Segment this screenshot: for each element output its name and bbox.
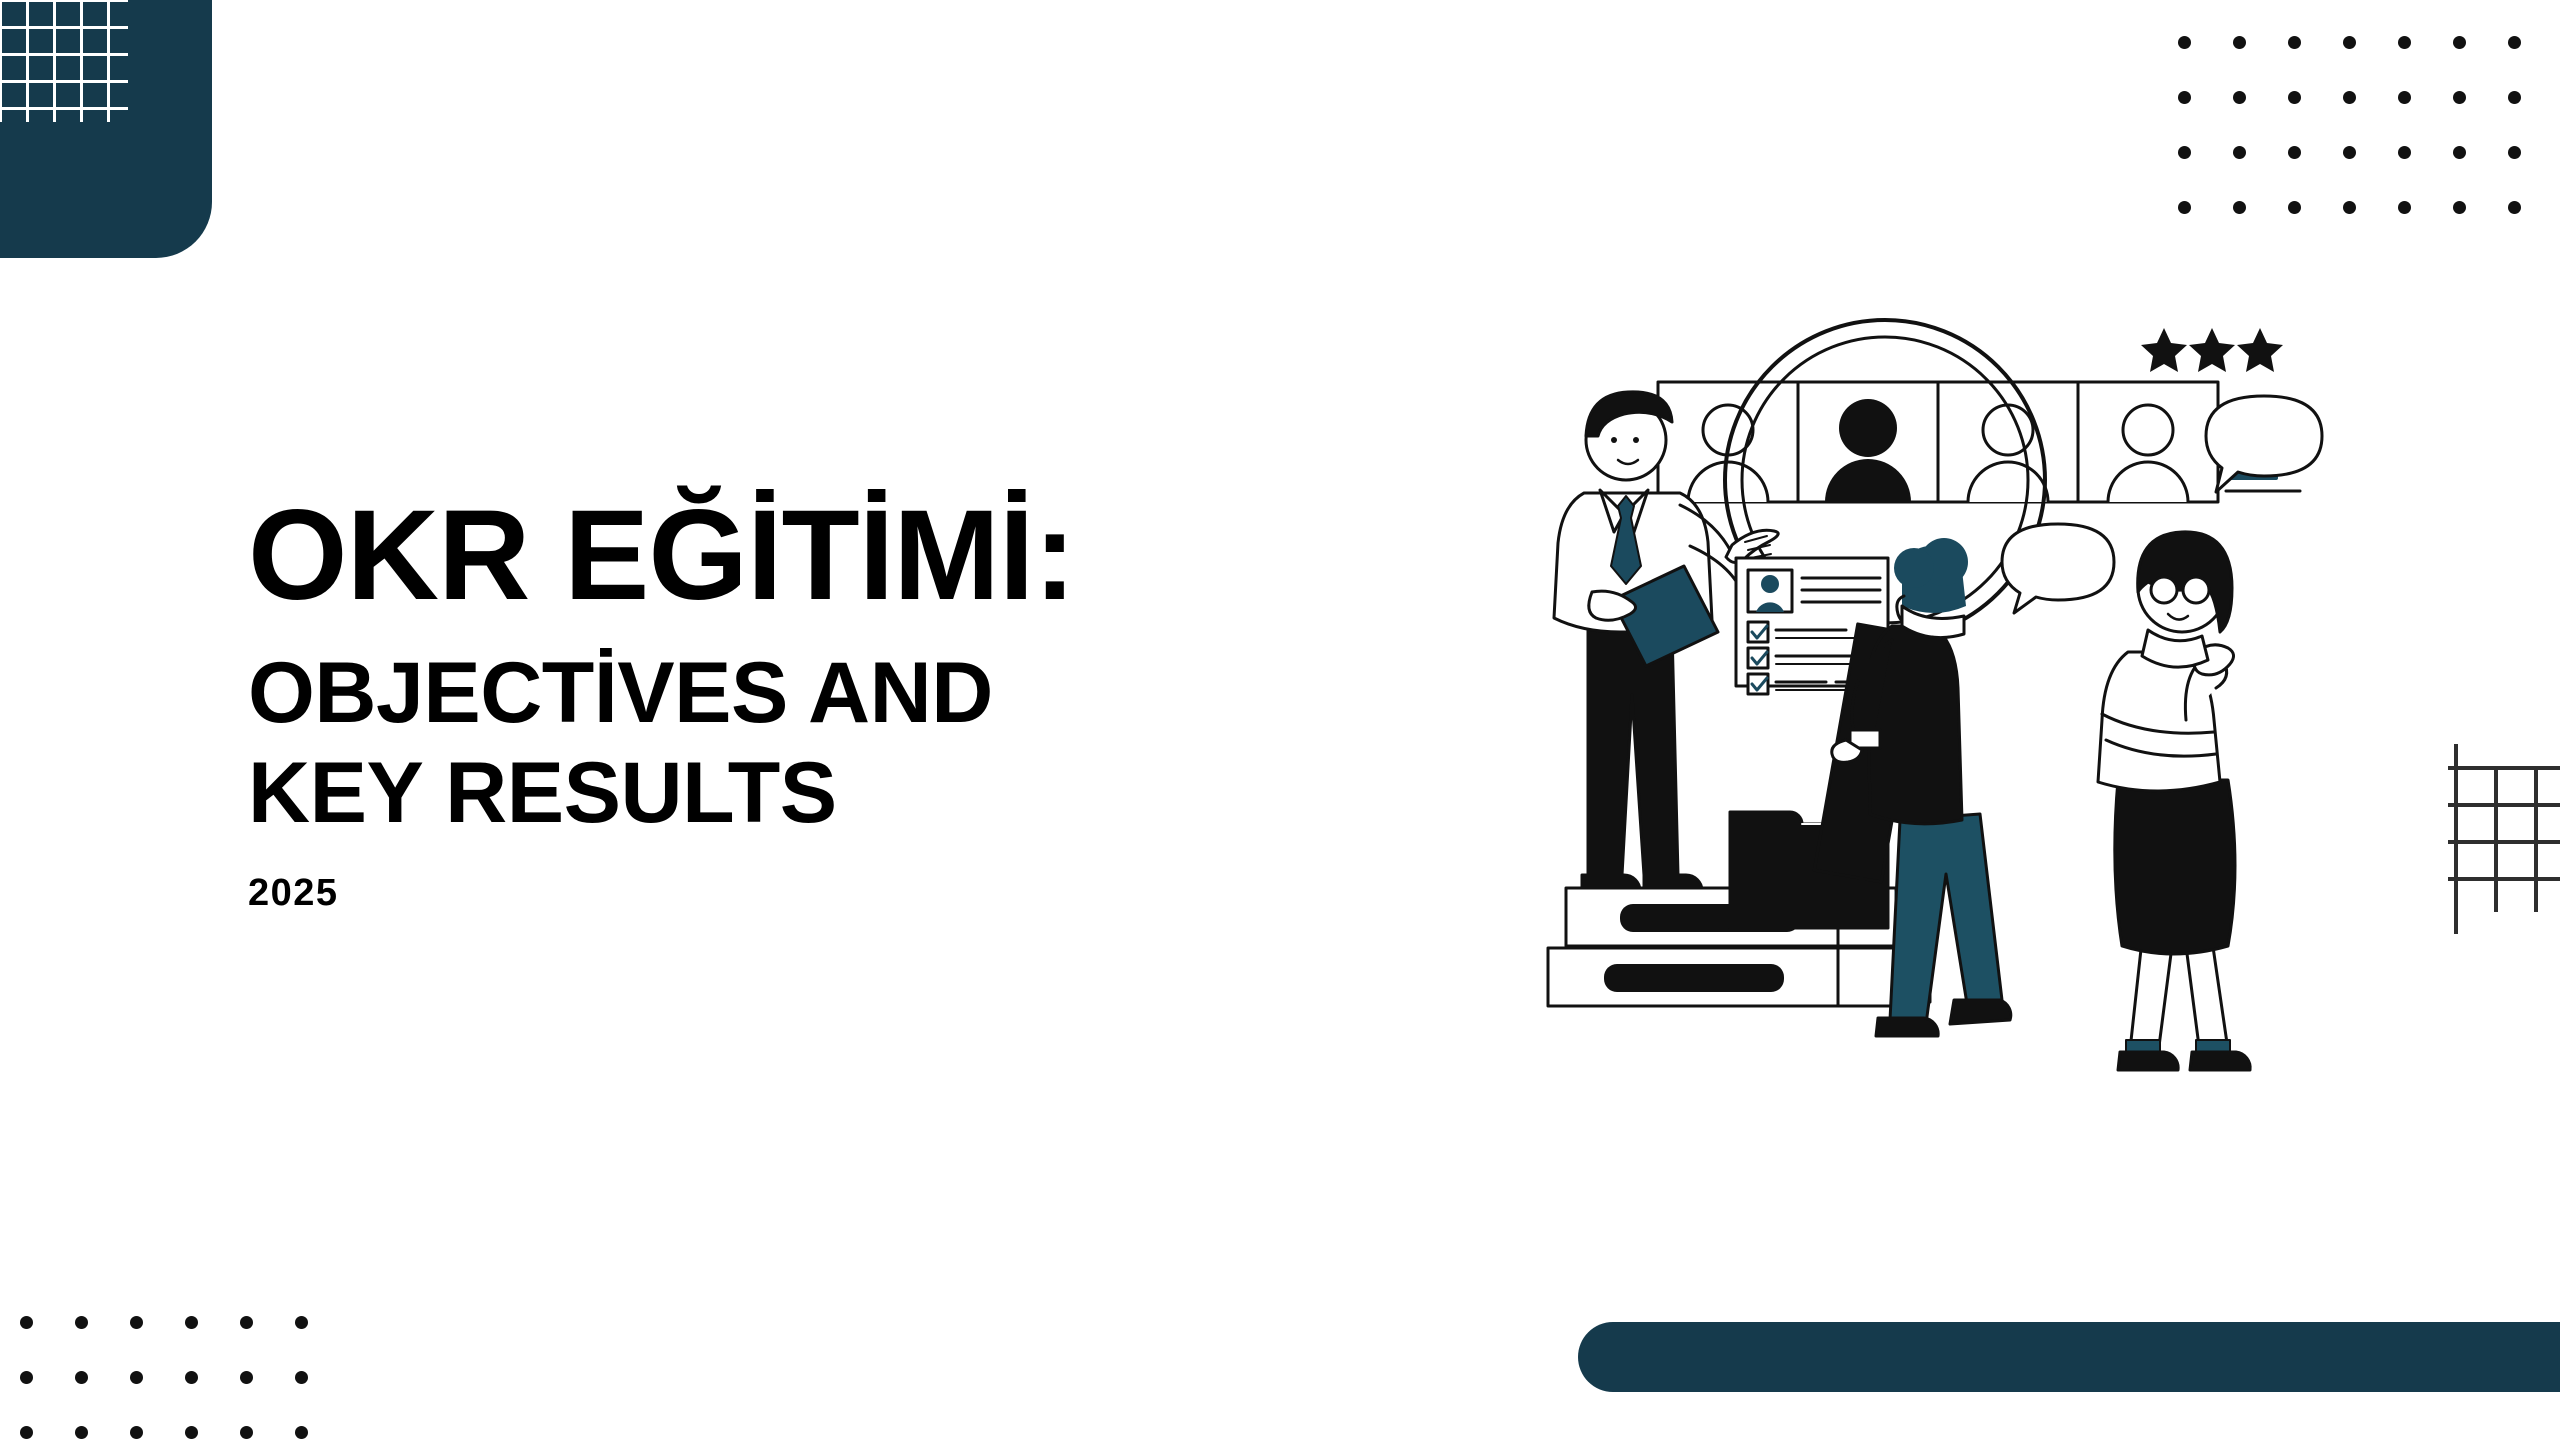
- decorative-dot: [2343, 201, 2356, 214]
- page-title: OKR EĞİTİMİ:: [248, 492, 1468, 620]
- decorative-dot: [2343, 36, 2356, 49]
- decorative-dot: [130, 1371, 143, 1384]
- corner-grid-pattern: [0, 0, 128, 122]
- decorative-dot: [2453, 91, 2466, 104]
- decorative-dot: [185, 1316, 198, 1329]
- decorative-dot: [2178, 91, 2191, 104]
- decorative-dot: [2288, 91, 2301, 104]
- decorative-dot: [240, 1426, 253, 1439]
- decorative-dot: [20, 1426, 33, 1439]
- decorative-dot: [2508, 146, 2521, 159]
- figure-woman-thinking: [2098, 532, 2250, 1070]
- year-label: 2025: [248, 872, 1468, 915]
- decorative-dot: [295, 1426, 308, 1439]
- subtitle-line-1: OBJECTİVES AND: [248, 644, 1468, 744]
- title-group: OKR EĞİTİMİ: OBJECTİVES AND KEY RESULTS …: [248, 492, 1468, 915]
- decorative-dot: [2453, 201, 2466, 214]
- decorative-dot: [295, 1316, 308, 1329]
- decorative-dot: [2288, 201, 2301, 214]
- decorative-dot: [2233, 146, 2246, 159]
- decorative-dot: [295, 1371, 308, 1384]
- decorative-dot: [2398, 91, 2411, 104]
- decorative-dot: [2288, 146, 2301, 159]
- decorative-dot: [75, 1371, 88, 1384]
- decorative-dot: [185, 1426, 198, 1439]
- decorative-dot: [2508, 91, 2521, 104]
- decorative-dot: [2178, 201, 2191, 214]
- decorative-dot: [2233, 201, 2246, 214]
- decorative-dot: [2453, 36, 2466, 49]
- decorative-dot: [2343, 146, 2356, 159]
- decorative-dot: [2508, 36, 2521, 49]
- decorative-dot: [2288, 36, 2301, 49]
- decorative-dot: [2233, 91, 2246, 104]
- decorative-dot: [185, 1371, 198, 1384]
- rating-stars: [2141, 328, 2283, 372]
- decorative-dot: [130, 1426, 143, 1439]
- corner-decoration-block: [0, 0, 212, 258]
- speech-bubble-left: [2002, 524, 2114, 613]
- decorative-dot: [2508, 201, 2521, 214]
- decorative-dot: [2343, 91, 2356, 104]
- decorative-dot: [2398, 146, 2411, 159]
- decorative-dot: [20, 1371, 33, 1384]
- decorative-dot: [2178, 36, 2191, 49]
- decorative-dot: [240, 1371, 253, 1384]
- decorative-dot: [2398, 36, 2411, 49]
- decorative-dot: [2398, 201, 2411, 214]
- decorative-dot: [75, 1426, 88, 1439]
- bottom-accent-bar: [1578, 1322, 2560, 1392]
- decorative-dot: [2453, 146, 2466, 159]
- decorative-dot: [20, 1316, 33, 1329]
- decorative-dot: [2178, 146, 2191, 159]
- subtitle-line-2: KEY RESULTS: [248, 744, 1468, 844]
- decorative-dot: [2233, 36, 2246, 49]
- decorative-dot: [130, 1316, 143, 1329]
- decorative-dot: [240, 1316, 253, 1329]
- decorative-dot: [75, 1316, 88, 1329]
- recruitment-illustration: [1540, 300, 2480, 1160]
- slide-canvas: OKR EĞİTİMİ: OBJECTİVES AND KEY RESULTS …: [0, 0, 2560, 1440]
